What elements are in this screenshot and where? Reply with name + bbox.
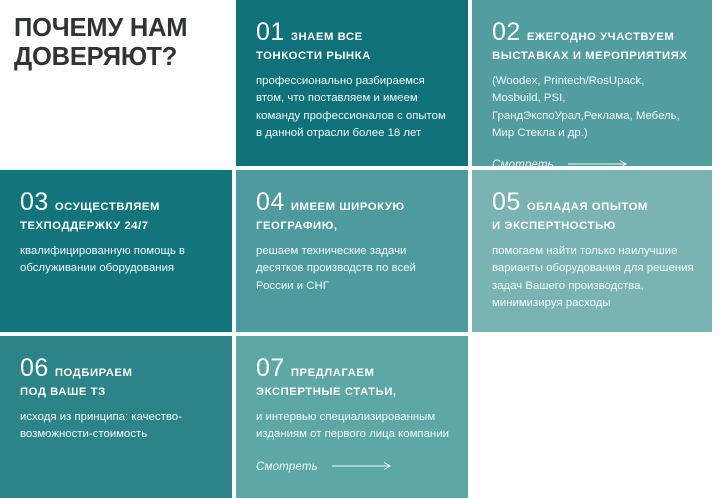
feature-card-06[interactable]: 06ПОДБИРАЕМ ПОД ВАШЕ ТЗ исходя из принци…: [0, 336, 232, 498]
card-number: 01: [256, 18, 285, 46]
card-number: 05: [492, 188, 521, 216]
card-body: исходя из принципа: качество-возможности…: [20, 409, 214, 444]
card-title: ОСУЩЕСТВЛЯЕМ: [55, 201, 160, 213]
more-link-label: Смотреть: [492, 159, 554, 166]
more-link-label: Смотреть: [256, 461, 318, 473]
card-body: помогаем найти только наилучшие варианты…: [492, 243, 694, 312]
card-heading: 06ПОДБИРАЕМ ПОД ВАШЕ ТЗ: [20, 354, 214, 399]
card-number: 02: [492, 18, 521, 46]
card-title: ЕЖЕГОДНО УЧАСТВУЕМ: [527, 31, 675, 43]
card-body: (Woodex, Printech/RosUpack, Mosbuild, PS…: [492, 73, 694, 142]
card-heading: 02ЕЖЕГОДНО УЧАСТВУЕМ ВЫСТАВКАХ И МЕРОПРИ…: [492, 18, 694, 63]
card-heading: 04ИМЕЕМ ШИРОКУЮ ГЕОГРАФИЮ,: [256, 188, 450, 233]
page-title-block: ПОЧЕМУ НАМ ДОВЕРЯЮТ?: [0, 0, 232, 166]
page-title: ПОЧЕМУ НАМ ДОВЕРЯЮТ?: [14, 14, 222, 71]
card-title-secondary: ВЫСТАВКАХ И МЕРОПРИЯТИЯХ: [492, 50, 694, 63]
feature-card-04[interactable]: 04ИМЕЕМ ШИРОКУЮ ГЕОГРАФИЮ, решаем технич…: [236, 170, 468, 332]
card-title-secondary: И ЭКСПЕРТНОСТЬЮ: [492, 220, 694, 233]
card-body: решаем технические задачи десятков произ…: [256, 243, 450, 295]
card-heading: 05ОБЛАДАЯ ОПЫТОМ И ЭКСПЕРТНОСТЬЮ: [492, 188, 694, 233]
arrow-right-icon: [332, 458, 394, 476]
feature-card-07[interactable]: 07ПРЕДЛАГАЕМ ЭКСПЕРТНЫЕ СТАТЬИ, и интерв…: [236, 336, 468, 498]
page-title-line-2: ДОВЕРЯЮТ?: [14, 43, 177, 71]
card-title: ИМЕЕМ ШИРОКУЮ: [291, 201, 405, 213]
feature-card-01[interactable]: 01ЗНАЕМ ВСЕ ТОНКОСТИ РЫНКА профессиональ…: [236, 0, 468, 166]
card-body: и интервью специализированным изданиям о…: [256, 409, 450, 444]
feature-card-03[interactable]: 03ОСУЩЕСТВЛЯЕМ ТЕХПОДДЕРЖКУ 24/7 квалифи…: [0, 170, 232, 332]
card-heading: 03ОСУЩЕСТВЛЯЕМ ТЕХПОДДЕРЖКУ 24/7: [20, 188, 214, 233]
card-number: 07: [256, 354, 285, 382]
card-title-secondary: ГЕОГРАФИЮ,: [256, 220, 450, 233]
card-number: 03: [20, 188, 49, 216]
feature-card-05[interactable]: 05ОБЛАДАЯ ОПЫТОМ И ЭКСПЕРТНОСТЬЮ помогае…: [472, 170, 712, 332]
card-title: ПРЕДЛАГАЕМ: [291, 367, 375, 379]
card-body: профессионально разбираемся втом, что по…: [256, 73, 450, 142]
page-title-line-1: ПОЧЕМУ НАМ: [14, 14, 187, 42]
card-title: ОБЛАДАЯ ОПЫТОМ: [527, 201, 648, 213]
card-heading: 01ЗНАЕМ ВСЕ ТОНКОСТИ РЫНКА: [256, 18, 450, 63]
card-title: ПОДБИРАЕМ: [55, 367, 133, 379]
arrow-right-icon: [568, 156, 630, 166]
card-title: ЗНАЕМ ВСЕ: [291, 31, 363, 43]
infographic-board: ПОЧЕМУ НАМ ДОВЕРЯЮТ? 01ЗНАЕМ ВСЕ ТОНКОСТ…: [0, 0, 720, 498]
card-title-secondary: ПОД ВАШЕ ТЗ: [20, 386, 214, 399]
card-body: квалифицированную помощь в обслуживании …: [20, 243, 214, 278]
card-heading: 07ПРЕДЛАГАЕМ ЭКСПЕРТНЫЕ СТАТЬИ,: [256, 354, 450, 399]
card-number: 04: [256, 188, 285, 216]
card-title-secondary: ТОНКОСТИ РЫНКА: [256, 50, 450, 63]
card-title-secondary: ТЕХПОДДЕРЖКУ 24/7: [20, 220, 214, 233]
feature-card-02[interactable]: 02ЕЖЕГОДНО УЧАСТВУЕМ ВЫСТАВКАХ И МЕРОПРИ…: [472, 0, 712, 166]
more-link-02[interactable]: Смотреть: [492, 156, 694, 166]
empty-cell-bottom-right: [472, 336, 720, 498]
card-title-secondary: ЭКСПЕРТНЫЕ СТАТЬИ,: [256, 386, 450, 399]
more-link-07[interactable]: Смотреть: [256, 458, 450, 476]
card-number: 06: [20, 354, 49, 382]
